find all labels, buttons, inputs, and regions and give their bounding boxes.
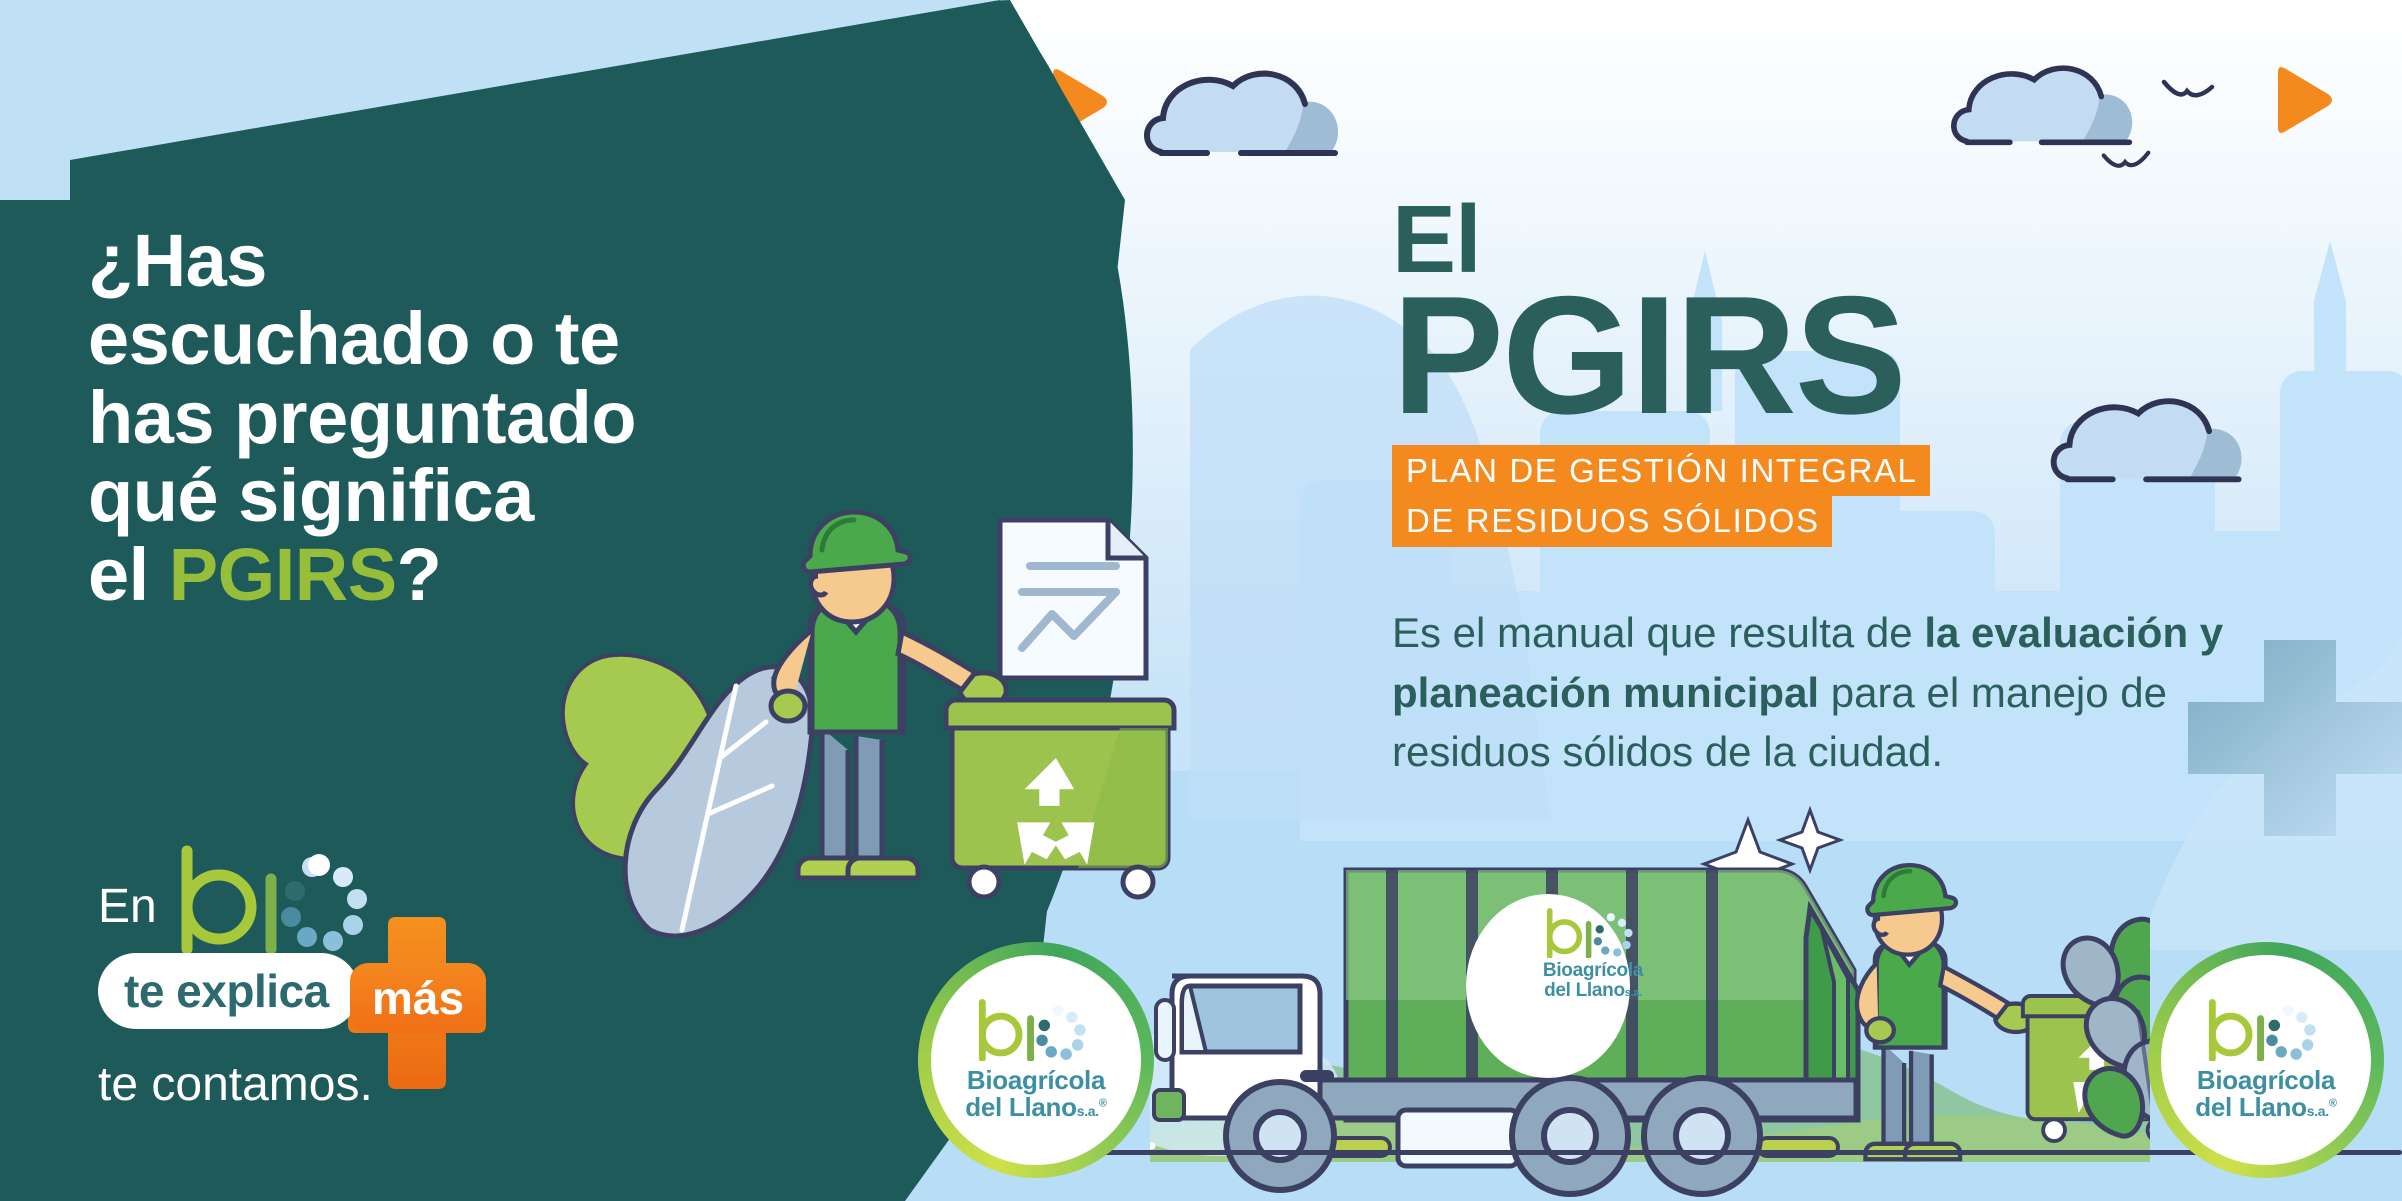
badge-suffix: s.a. bbox=[2307, 1103, 2329, 1119]
badge-name-line-1: Bioagrícola bbox=[2195, 1067, 2336, 1094]
badge-registered-mark: ® bbox=[1099, 1097, 1107, 1109]
headline-line-2: escuchado o te bbox=[88, 300, 868, 378]
logo-badge-right[interactable]: Bioagrícola del Llanos.a.® bbox=[2148, 942, 2384, 1178]
bio-wordmark-small bbox=[1534, 908, 1652, 958]
title-pgirs: PGIRS bbox=[1392, 278, 2252, 433]
right-content-column: El PGIRS PLAN DE GESTIÓN INTEGRAL DE RES… bbox=[1392, 196, 2252, 782]
headline-line-1: ¿Has bbox=[88, 222, 868, 300]
logo-badge-left[interactable]: Bioagrícola del Llanos.a.® bbox=[918, 942, 1154, 1178]
badge-registered-mark: ® bbox=[2329, 1097, 2337, 1109]
bio-wordmark bbox=[961, 999, 1111, 1061]
badge-face: Bioagrícola del Llanos.a.® bbox=[2161, 955, 2371, 1165]
brand-pill-te-explica: te explica bbox=[98, 953, 359, 1029]
badge-name-line-2: del Llanos.a.® bbox=[2195, 1094, 2336, 1121]
truck-decal-name-1: Bioagrícola bbox=[1498, 961, 1688, 981]
badge-company-name: Bioagrícola del Llanos.a.® bbox=[2195, 1067, 2336, 1120]
subtitle-bars: PLAN DE GESTIÓN INTEGRAL DE RESIDUOS SÓL… bbox=[1392, 445, 2252, 547]
badge-name-line-2: del Llanos.a.® bbox=[965, 1094, 1106, 1121]
body-text-part1: Es el manual que resulta de bbox=[1392, 609, 1924, 656]
truck-decal: Bioagrícola del Llanos.a. bbox=[1498, 908, 1688, 1001]
headline-plain: el bbox=[88, 533, 169, 616]
bird-icon bbox=[2100, 148, 2152, 181]
play-arrow-icon[interactable] bbox=[2270, 64, 2334, 141]
badge-suffix: s.a. bbox=[1077, 1103, 1099, 1119]
headline-tail: ? bbox=[397, 533, 442, 616]
badge-name-line-2-text: del Llano bbox=[965, 1092, 1076, 1122]
badge-face: Bioagrícola del Llanos.a.® bbox=[931, 955, 1141, 1165]
worker-recycling-illustration bbox=[560, 500, 1220, 940]
badge-name-line-2-text: del Llano bbox=[2195, 1092, 2306, 1122]
brand-pill-wrap: te explica más bbox=[98, 945, 718, 1041]
truck-decal-name-2-text: del Llano bbox=[1544, 980, 1625, 1001]
bio-wordmark bbox=[2191, 999, 2341, 1061]
brand-chip-mas: más bbox=[350, 963, 486, 1033]
cloud-icon bbox=[1940, 48, 2160, 160]
subtitle-line-2: DE RESIDUOS SÓLIDOS bbox=[1392, 495, 1832, 547]
brand-en-label: En bbox=[98, 883, 173, 953]
infographic-canvas: ¿Has escuchado o te has preguntado qué s… bbox=[0, 0, 2402, 1201]
headline-line-3: has preguntado bbox=[88, 379, 868, 457]
subtitle-line-1: PLAN DE GESTIÓN INTEGRAL bbox=[1392, 445, 1930, 497]
badge-name-line-1: Bioagrícola bbox=[965, 1067, 1106, 1094]
body-paragraph: Es el manual que resulta de la evaluació… bbox=[1392, 603, 2252, 782]
truck-decal-name-2: del Llanos.a. bbox=[1498, 981, 1688, 1001]
badge-company-name: Bioagrícola del Llanos.a.® bbox=[965, 1067, 1106, 1120]
headline-accent-pgirs: PGIRS bbox=[169, 533, 397, 616]
bird-icon bbox=[2160, 78, 2216, 113]
truck-decal-suffix: s.a. bbox=[1625, 987, 1642, 999]
